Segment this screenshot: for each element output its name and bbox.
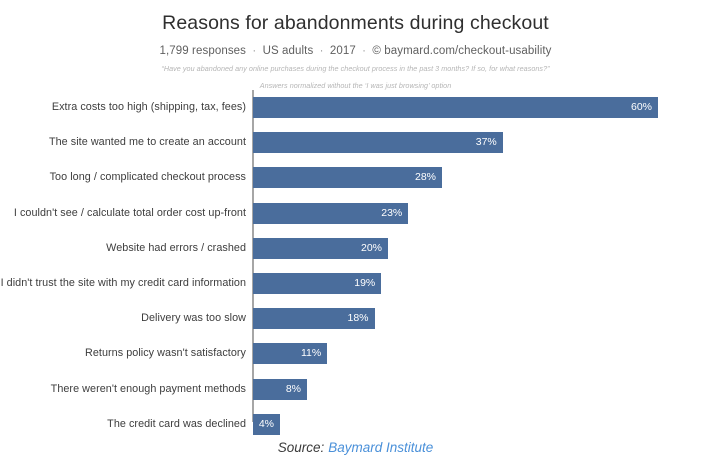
category-label: Too long / complicated checkout process — [50, 167, 246, 188]
subtitle-separator: · — [359, 45, 369, 57]
bar[interactable]: 19% — [253, 273, 381, 294]
bar-value-label: 8% — [286, 379, 301, 400]
bar-value-label: 11% — [301, 343, 321, 364]
bar-value-label: 18% — [347, 308, 368, 329]
category-label: The site wanted me to create an account — [49, 132, 246, 153]
bar[interactable]: 28% — [253, 167, 442, 188]
bar[interactable]: 11% — [253, 343, 327, 364]
subtitle-separator: · — [317, 45, 327, 57]
bar-value-label: 4% — [259, 414, 274, 435]
bar[interactable]: 37% — [253, 132, 503, 153]
bar-value-label: 23% — [381, 203, 402, 224]
category-label: I didn't trust the site with my credit c… — [1, 273, 246, 294]
bar[interactable]: 60% — [253, 97, 658, 118]
chart-row: The site wanted me to create an account3… — [0, 132, 711, 153]
category-label: Extra costs too high (shipping, tax, fee… — [52, 97, 246, 118]
bar[interactable]: 8% — [253, 379, 307, 400]
bar[interactable]: 4% — [253, 414, 280, 435]
chart-header: Reasons for abandonments during checkout… — [0, 0, 711, 91]
chart-row: Extra costs too high (shipping, tax, fee… — [0, 97, 711, 118]
chart-row: I didn't trust the site with my credit c… — [0, 273, 711, 294]
subtitle-audience: US adults — [263, 45, 314, 57]
bar[interactable]: 18% — [253, 308, 375, 329]
category-label: Delivery was too slow — [141, 308, 246, 329]
bar[interactable]: 20% — [253, 238, 388, 259]
bar-value-label: 20% — [361, 238, 382, 259]
plot-area: Extra costs too high (shipping, tax, fee… — [0, 90, 711, 430]
chart-container: Reasons for abandonments during checkout… — [0, 0, 711, 474]
source-label: Source: — [278, 440, 325, 455]
category-label: I couldn't see / calculate total order c… — [14, 203, 246, 224]
chart-note-question: “Have you abandoned any online purchases… — [0, 57, 711, 74]
subtitle-separator: · — [249, 45, 259, 57]
source-link[interactable]: Baymard Institute — [324, 440, 433, 455]
chart-footer: Source:Baymard Institute — [0, 440, 711, 455]
copyright-icon: © — [372, 45, 381, 57]
category-label: The credit card was declined — [107, 414, 246, 435]
category-label: Returns policy wasn't satisfactory — [85, 343, 246, 364]
bar-value-label: 19% — [354, 273, 375, 294]
chart-note-normalization: Answers normalized without the ‘I was ju… — [0, 74, 711, 91]
category-label: Website had errors / crashed — [106, 238, 246, 259]
subtitle-year: 2017 — [330, 45, 356, 57]
chart-row: The credit card was declined4% — [0, 414, 711, 435]
page-title: Reasons for abandonments during checkout — [0, 0, 711, 35]
chart-row: Returns policy wasn't satisfactory11% — [0, 343, 711, 364]
subtitle-source-url: baymard.com/checkout-usability — [384, 45, 551, 57]
chart-subtitle: 1,799 responses · US adults · 2017 · © b… — [0, 35, 711, 57]
chart-row: Too long / complicated checkout process2… — [0, 167, 711, 188]
bar-value-label: 60% — [631, 97, 652, 118]
subtitle-responses: 1,799 responses — [159, 45, 246, 57]
chart-row: I couldn't see / calculate total order c… — [0, 203, 711, 224]
bar[interactable]: 23% — [253, 203, 408, 224]
chart-row: Delivery was too slow18% — [0, 308, 711, 329]
bar-value-label: 37% — [476, 132, 497, 153]
chart-row: There weren't enough payment methods8% — [0, 379, 711, 400]
bar-value-label: 28% — [415, 167, 436, 188]
chart-row: Website had errors / crashed20% — [0, 238, 711, 259]
category-label: There weren't enough payment methods — [51, 379, 246, 400]
